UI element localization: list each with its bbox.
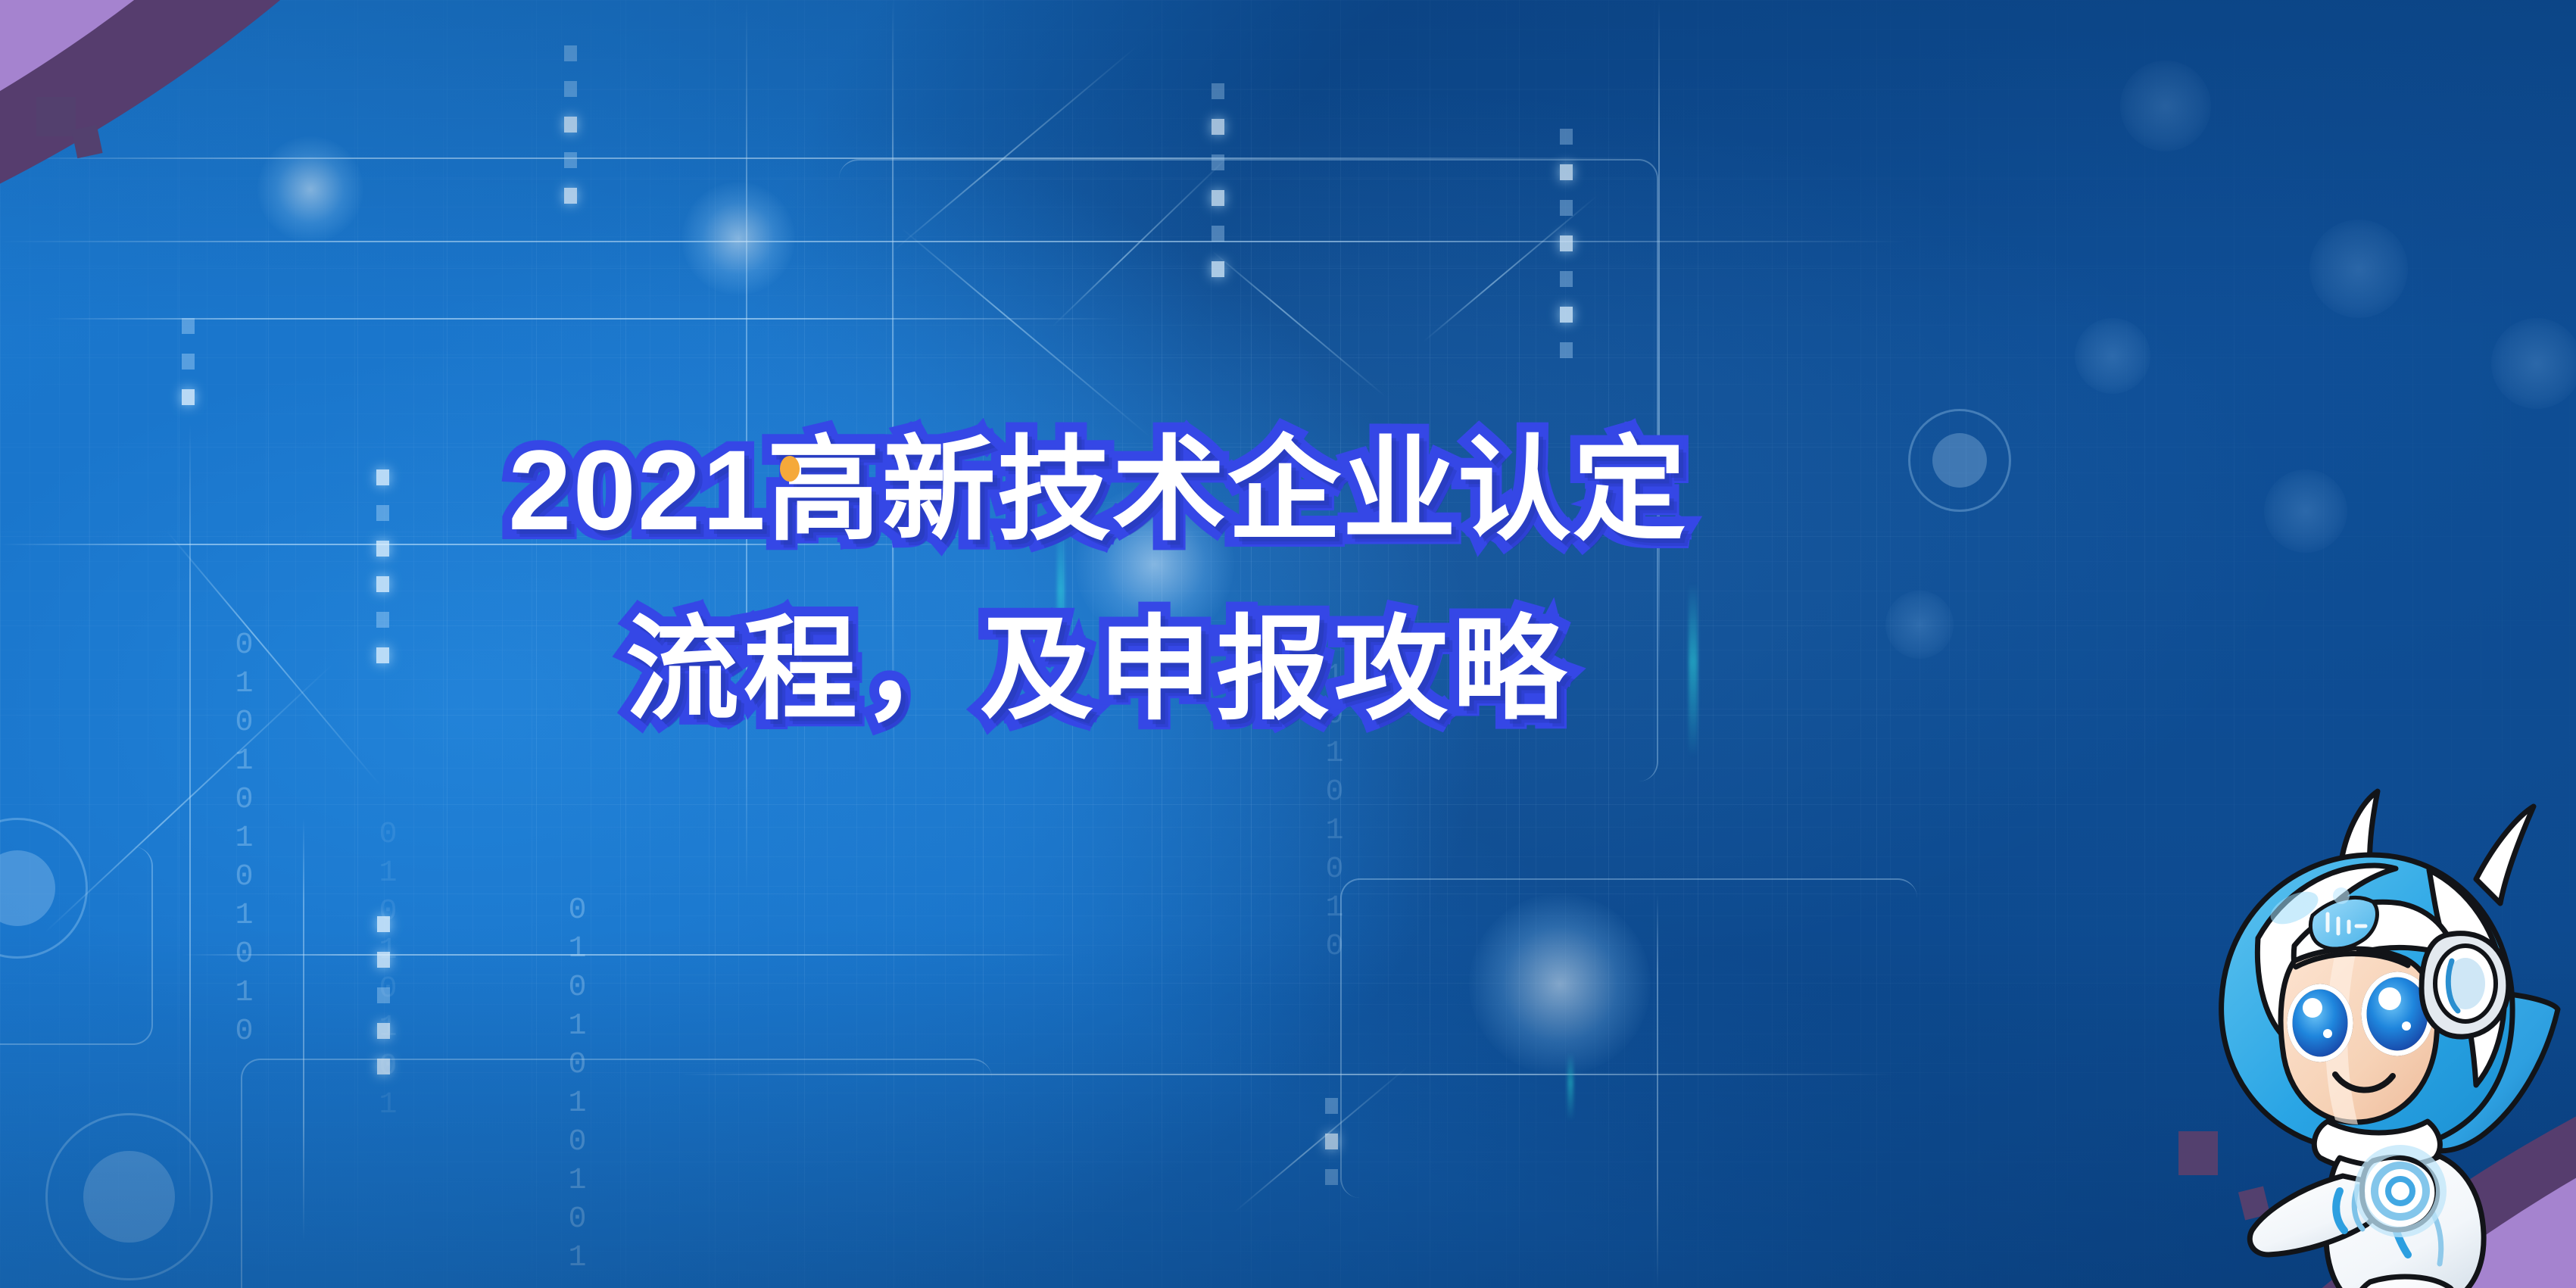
title-line-1: 2021高新技术企业认定 bbox=[0, 424, 2196, 557]
robot-astronaut-mascot bbox=[2179, 782, 2565, 1288]
decorative-square bbox=[36, 97, 76, 136]
promo-banner: 01010101010 0101010101 010101010 0101010… bbox=[0, 0, 2576, 1288]
banner-title: 2021高新技术企业认定 流程，及申报攻略 bbox=[0, 424, 2196, 736]
title-line-2: 流程，及申报攻略 bbox=[0, 603, 2196, 736]
accent-dot bbox=[780, 456, 800, 482]
